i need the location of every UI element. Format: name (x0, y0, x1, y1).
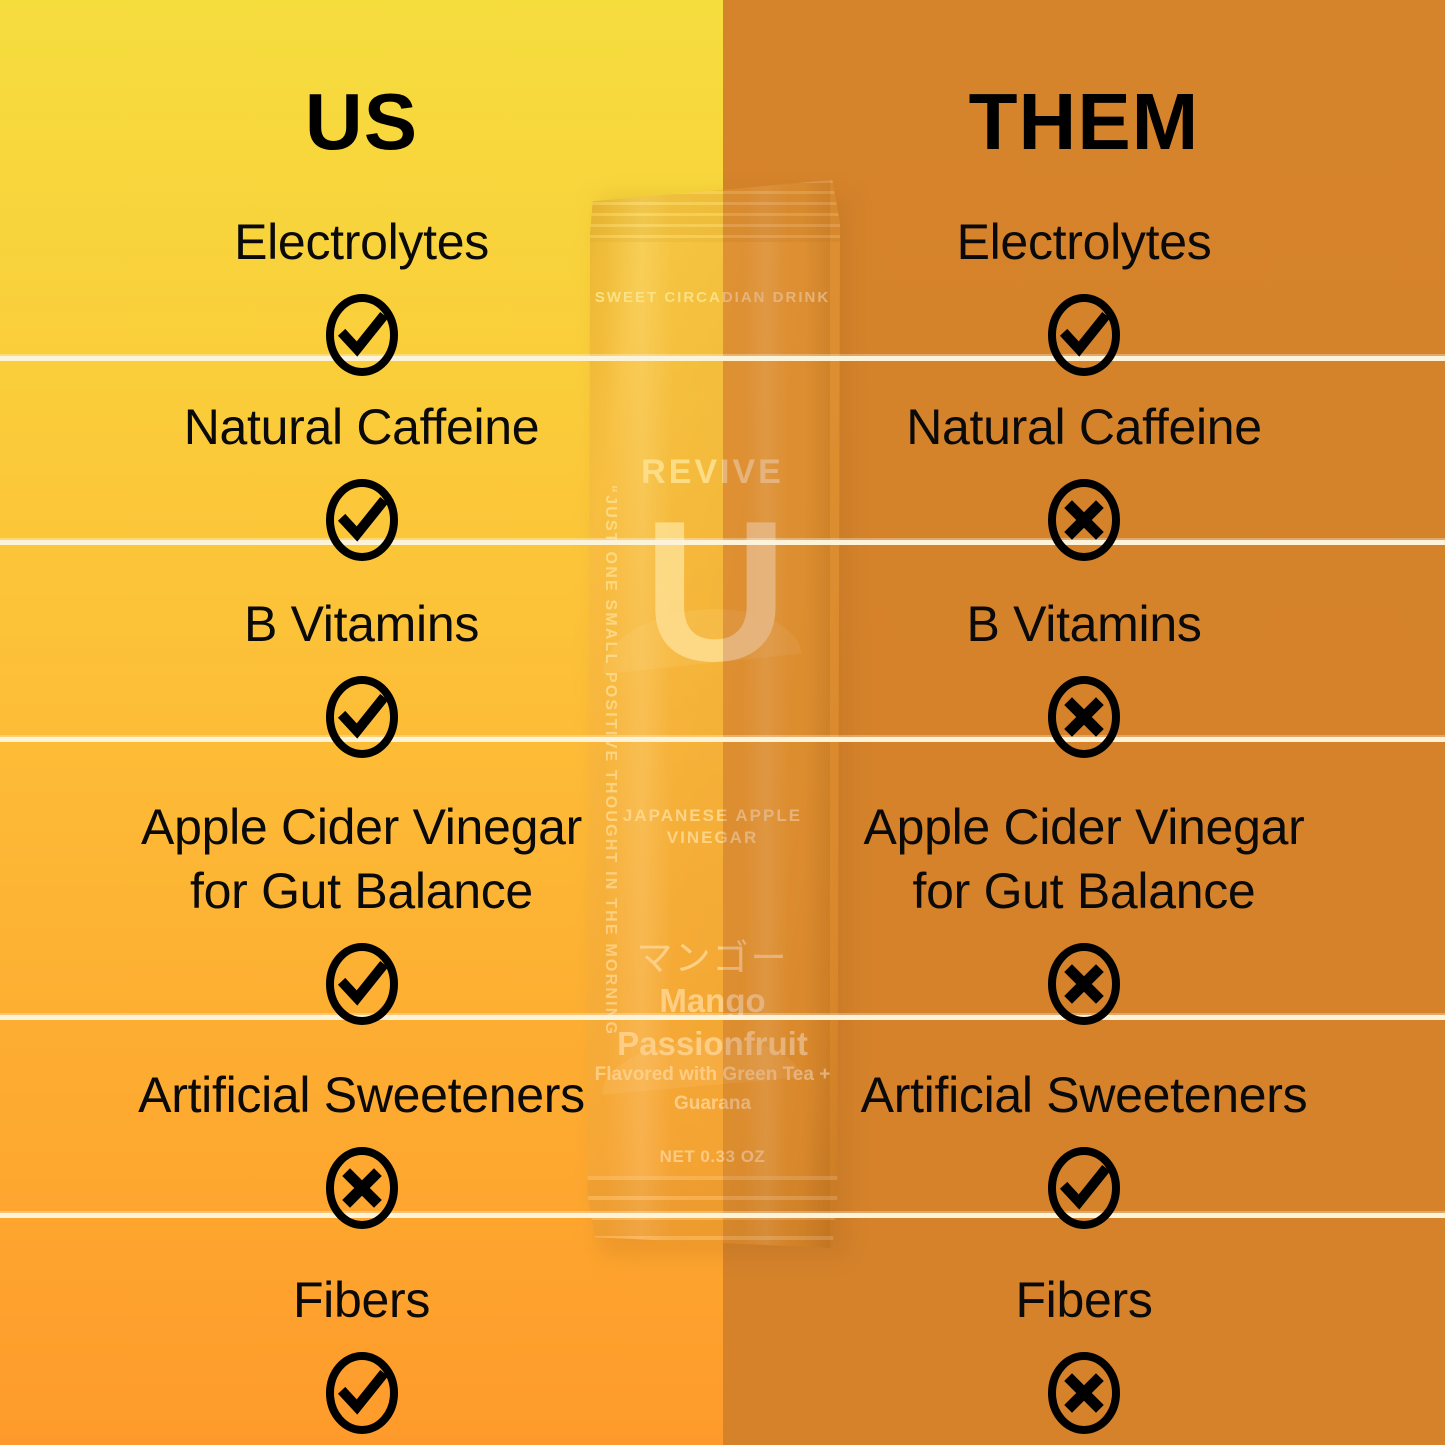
feature-label: Fibers (293, 1268, 430, 1332)
feature-label: Fibers (1015, 1268, 1152, 1332)
us-row-natural-caffeine: Natural Caffeine (0, 395, 723, 563)
feature-label: Natural Caffeine (184, 395, 540, 459)
feature-label: Electrolytes (957, 210, 1212, 274)
them-header-cell: THEM (723, 82, 1445, 162)
check-circle-icon (323, 292, 401, 378)
them-row-natural-caffeine: Natural Caffeine (723, 395, 1445, 563)
them-row-b-vitamins: B Vitamins (723, 592, 1445, 760)
us-header-cell: US (0, 82, 723, 162)
cross-circle-icon (1045, 1350, 1123, 1436)
us-row-b-vitamins: B Vitamins (0, 592, 723, 760)
cross-circle-icon (1045, 941, 1123, 1027)
cross-circle-icon (323, 1145, 401, 1231)
check-circle-icon (1045, 1145, 1123, 1231)
comparison-infographic: SWEET CIRCADIAN DRINK REVIVE U JAPANESE … (0, 0, 1445, 1445)
us-row-electrolytes: Electrolytes (0, 210, 723, 378)
feature-label: B Vitamins (966, 592, 1201, 656)
check-circle-icon (1045, 292, 1123, 378)
feature-label: Natural Caffeine (906, 395, 1262, 459)
check-circle-icon (323, 1350, 401, 1436)
them-row-artificial-sweeteners: Artificial Sweeteners (723, 1063, 1445, 1231)
comparison-grid: US THEM Electrolytes Electrolytes (0, 0, 1445, 1445)
check-circle-icon (323, 674, 401, 760)
them-row-apple-cider-vinegar: Apple Cider Vinegar for Gut Balance (723, 795, 1445, 1027)
us-row-fibers: Fibers (0, 1268, 723, 1436)
cross-circle-icon (1045, 674, 1123, 760)
feature-label: Artificial Sweeteners (861, 1063, 1308, 1127)
us-header-title: US (305, 82, 418, 162)
us-row-apple-cider-vinegar: Apple Cider Vinegar for Gut Balance (0, 795, 723, 1027)
them-row-fibers: Fibers (723, 1268, 1445, 1436)
check-circle-icon (323, 941, 401, 1027)
them-header-title: THEM (969, 82, 1200, 162)
cross-circle-icon (1045, 477, 1123, 563)
us-row-artificial-sweeteners: Artificial Sweeteners (0, 1063, 723, 1231)
feature-label: B Vitamins (244, 592, 479, 656)
them-row-electrolytes: Electrolytes (723, 210, 1445, 378)
check-circle-icon (323, 477, 401, 563)
feature-label: Apple Cider Vinegar for Gut Balance (141, 795, 582, 923)
feature-label: Artificial Sweeteners (138, 1063, 585, 1127)
feature-label: Electrolytes (234, 210, 489, 274)
feature-label: Apple Cider Vinegar for Gut Balance (864, 795, 1305, 923)
